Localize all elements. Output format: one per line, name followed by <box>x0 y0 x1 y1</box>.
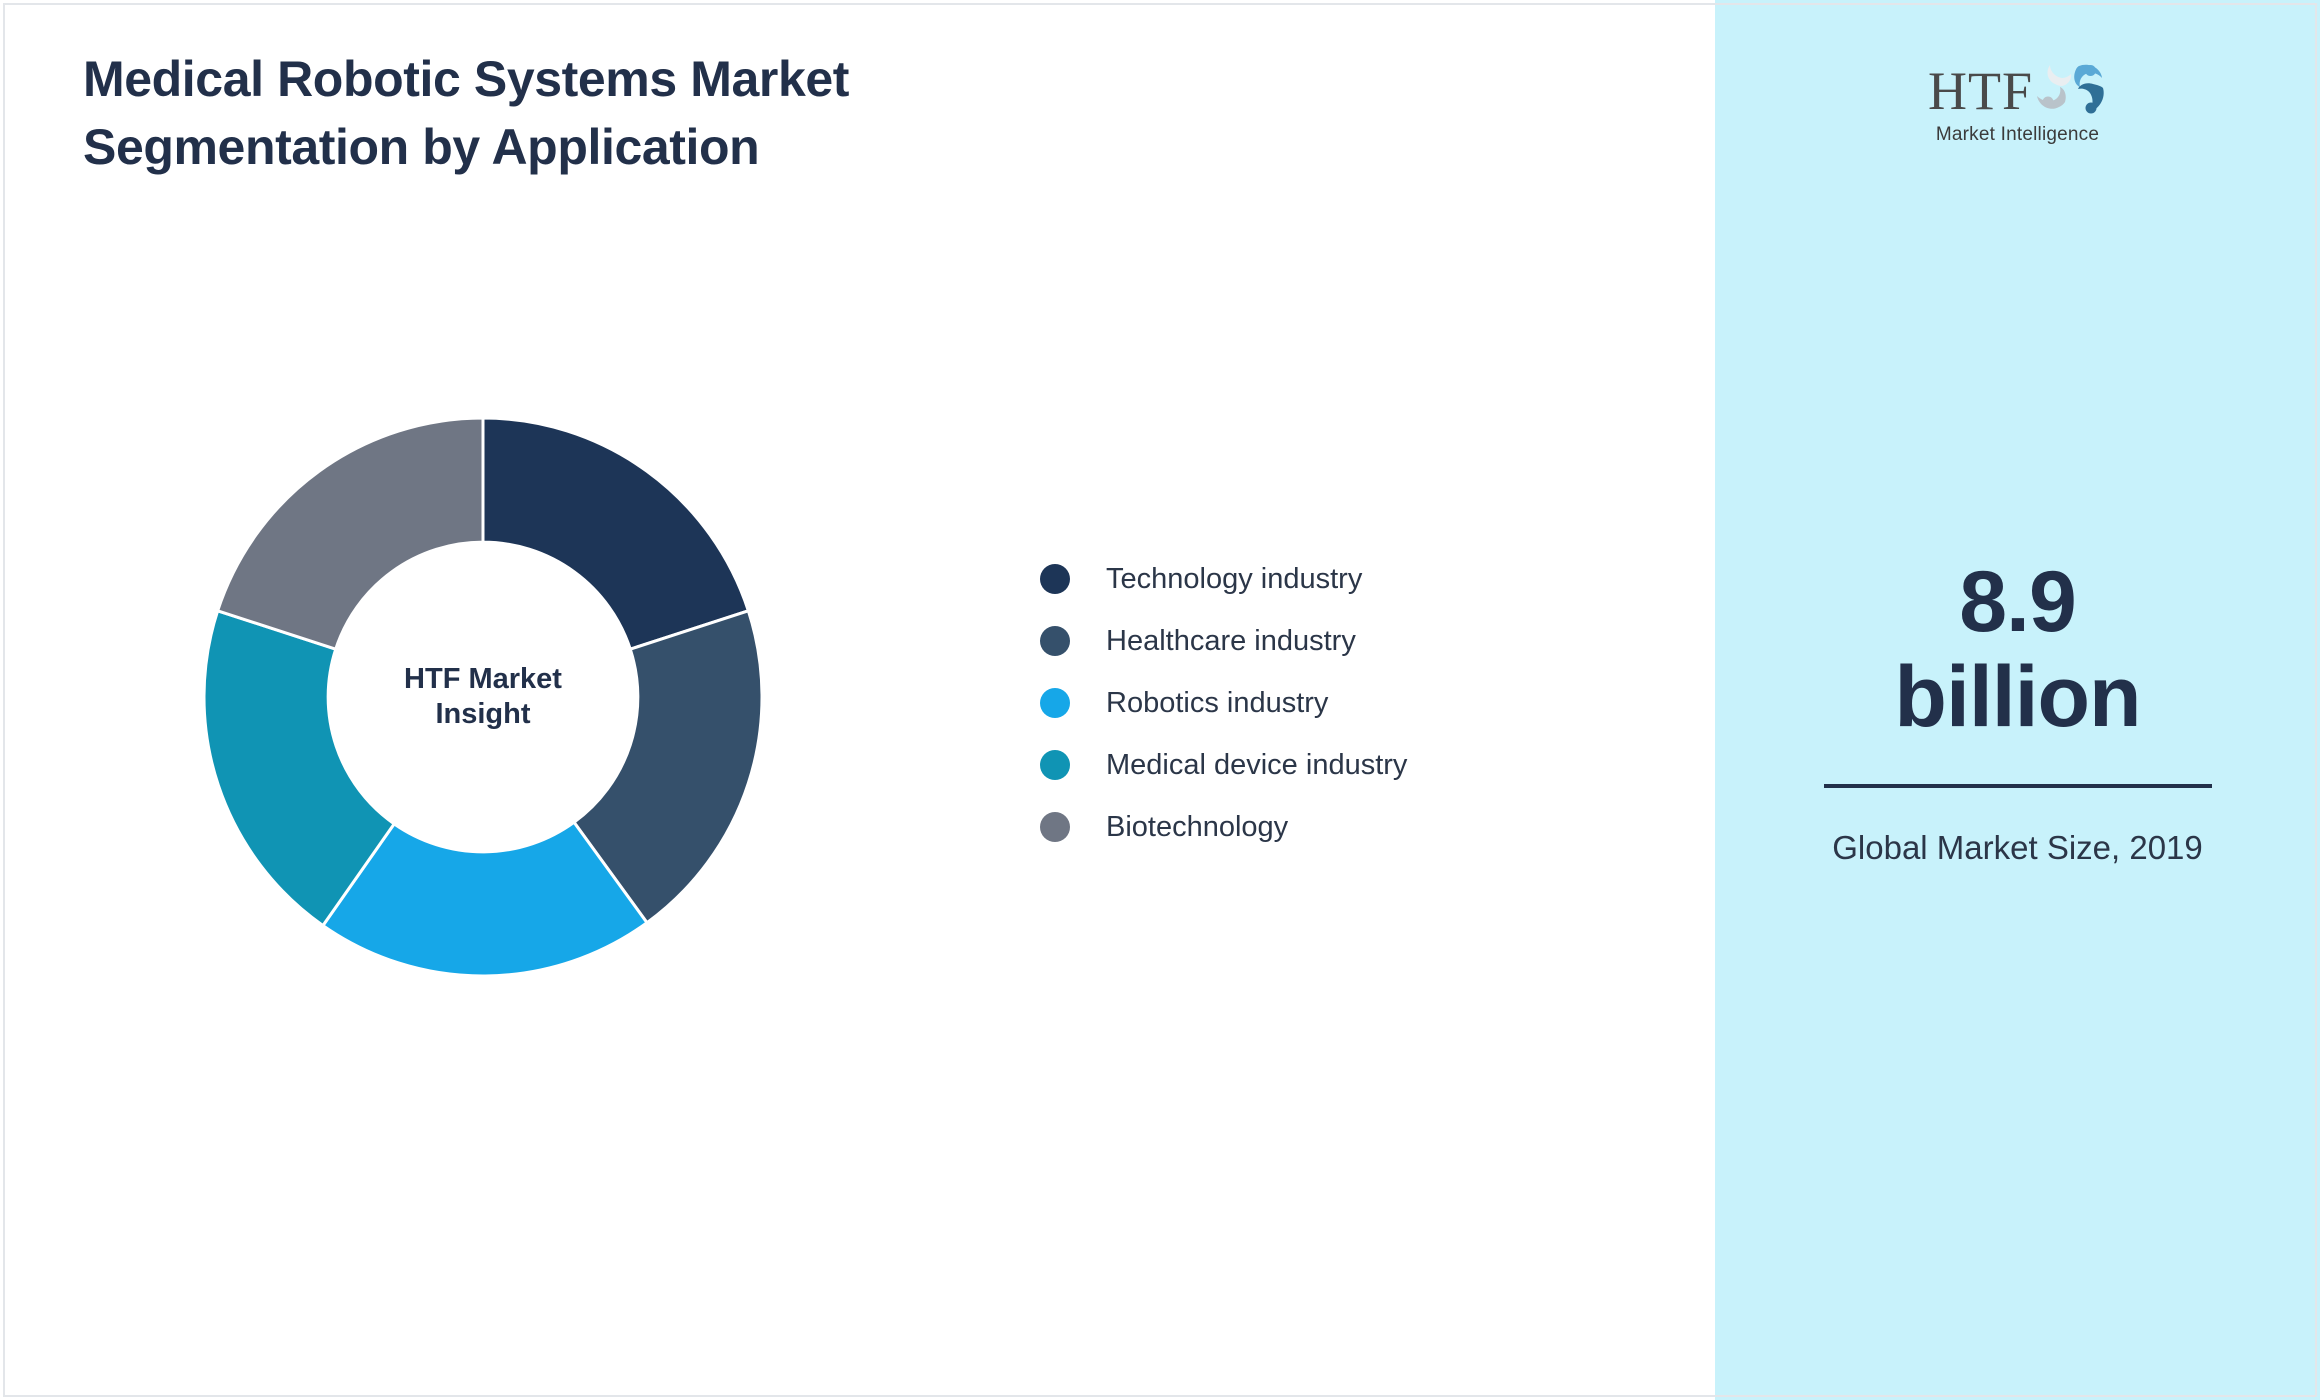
stat-block: 8.9 billion Global Market Size, 2019 <box>1808 555 2228 871</box>
donut-slice <box>218 418 483 649</box>
stat-value-line2: billion <box>1808 650 2228 745</box>
legend-item-label: Healthcare industry <box>1106 625 1356 658</box>
donut-chart: HTF Market Insight <box>204 418 762 976</box>
legend-swatch-icon <box>1040 626 1070 656</box>
legend-item-label: Medical device industry <box>1106 749 1407 782</box>
legend-swatch-icon <box>1040 564 1070 594</box>
brand-logo: HTF Market Intelligence <box>1888 60 2148 146</box>
legend-item-label: Robotics industry <box>1106 687 1328 720</box>
stat-value-line1: 8.9 <box>1808 555 2228 650</box>
legend-swatch-icon <box>1040 688 1070 718</box>
legend-item-label: Biotechnology <box>1106 811 1288 844</box>
donut-chart-svg <box>204 418 762 976</box>
legend-item: Robotics industry <box>1040 672 1540 734</box>
legend-swatch-icon <box>1040 750 1070 780</box>
stat-divider <box>1824 784 2212 788</box>
legend-item: Medical device industry <box>1040 734 1540 796</box>
donut-slice <box>483 418 748 649</box>
logo-subtitle: Market Intelligence <box>1888 124 2148 146</box>
htf-triskelion-logo-icon <box>2035 58 2107 125</box>
logo-wordmark: HTF <box>1928 64 2033 118</box>
main-content-panel: Medical Robotic Systems Market Segmentat… <box>0 0 1715 1400</box>
legend-item: Healthcare industry <box>1040 610 1540 672</box>
stat-value: 8.9 billion <box>1808 555 2228 744</box>
legend-item-label: Technology industry <box>1106 563 1362 596</box>
infographic-canvas: Medical Robotic Systems Market Segmentat… <box>0 0 2320 1400</box>
stat-caption: Global Market Size, 2019 <box>1808 826 2228 871</box>
legend-item: Technology industry <box>1040 548 1540 610</box>
legend-swatch-icon <box>1040 812 1070 842</box>
page-title: Medical Robotic Systems Market Segmentat… <box>83 45 1143 181</box>
chart-legend: Technology industryHealthcare industryRo… <box>1040 548 1540 858</box>
legend-item: Biotechnology <box>1040 796 1540 858</box>
stat-sidebar-panel: HTF Market Intelligence <box>1715 0 2320 1400</box>
